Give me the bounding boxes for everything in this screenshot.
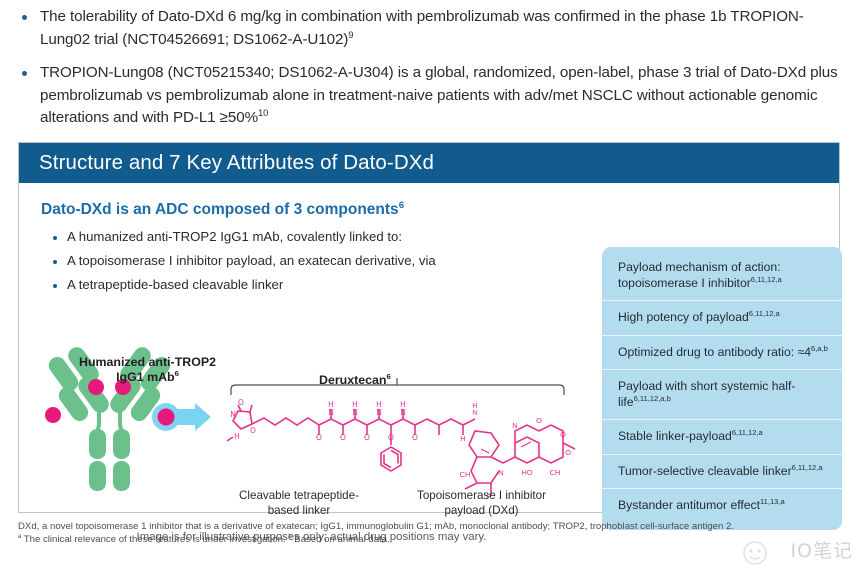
reference-superscript: 6 <box>175 369 179 378</box>
svg-text:CH: CH <box>550 468 561 477</box>
intro-bullet-1-text: The tolerability of Dato-DXd 6 mg/kg in … <box>40 6 842 51</box>
attribute-row: Tumor-selective cleavable linker6,11,12,… <box>602 455 842 490</box>
attribute-row: Payload mechanism of action: topoisomera… <box>602 251 842 301</box>
reference-superscript: 6,11,12,a,b <box>634 393 671 402</box>
dxd-payload-structure: N H H N O O O HO N CH F CH <box>427 401 575 501</box>
reference-superscript: 9 <box>348 28 353 39</box>
svg-text:O: O <box>340 433 346 442</box>
svg-text:N: N <box>230 410 236 419</box>
svg-text:H: H <box>460 434 465 443</box>
intro-bullet-2-text: TROPION-Lung08 (NCT05215340; DS1062-A-U3… <box>40 62 842 130</box>
svg-text:CH: CH <box>460 470 471 479</box>
reference-superscript: 6,11,12,a <box>732 428 763 437</box>
svg-text:O: O <box>388 433 394 442</box>
reference-superscript: 10 <box>258 107 268 118</box>
footnote-abbreviations: DXd, a novel topoisomerase 1 inhibitor t… <box>18 521 848 534</box>
svg-text:H: H <box>472 401 477 410</box>
footnote-markers: a The clinical relevance of these featur… <box>18 534 848 547</box>
deruxtecan-label: Deruxtecan6 <box>319 373 391 387</box>
adc-structure-illustration: O O O HN O HN O HN O HN O H N <box>19 183 584 513</box>
svg-text:N: N <box>328 408 334 417</box>
svg-text:N: N <box>352 408 358 417</box>
bullet-dot-icon <box>22 71 27 76</box>
svg-text:HO: HO <box>521 468 532 477</box>
svg-text:H: H <box>234 432 240 441</box>
reference-superscript: 6,11,12,a <box>751 274 782 283</box>
payload-caption: Topoisomerase I inhibitor payload (DXd) <box>394 489 569 518</box>
svg-text:N: N <box>512 421 517 430</box>
svg-text:O: O <box>364 433 370 442</box>
antibody-label: Humanized anti-TROP2 IgG1 mAb6 <box>65 355 230 385</box>
list-item: TROPION-Lung08 (NCT05215340; DS1062-A-U3… <box>22 62 842 130</box>
reference-superscript: 6,a,b <box>811 343 828 352</box>
svg-text:O: O <box>238 398 244 407</box>
structure-attributes-panel: Structure and 7 Key Attributes of Dato-D… <box>18 142 840 513</box>
list-item: The tolerability of Dato-DXd 6 mg/kg in … <box>22 6 842 51</box>
svg-text:O: O <box>250 426 256 435</box>
deruxtecan-bracket <box>231 378 564 395</box>
page-title: Structure and 7 Key Attributes of Dato-D… <box>39 151 434 175</box>
attribute-row: Stable linker-payload6,11,12,a <box>602 420 842 455</box>
bullet-dot-icon <box>22 15 27 20</box>
svg-text:O: O <box>560 430 566 439</box>
svg-text:O: O <box>316 433 322 442</box>
reference-superscript: 6,11,12,a <box>749 309 780 318</box>
reference-superscript: 11,13,a <box>760 497 785 506</box>
attribute-row: Payload with short systemic half-life6,1… <box>602 370 842 420</box>
payload-release-arrow-icon <box>152 403 211 431</box>
intro-bullet-list: The tolerability of Dato-DXd 6 mg/kg in … <box>22 6 842 141</box>
adc-composition-column: Dato-DXd is an ADC composed of 3 compone… <box>19 183 584 513</box>
attribute-row: Bystander antitumor effect11,13,a <box>602 489 842 523</box>
attribute-row: High potency of payload6,11,12,a <box>602 301 842 336</box>
footnotes: DXd, a novel topoisomerase 1 inhibitor t… <box>18 521 848 546</box>
key-attributes-box: Payload mechanism of action: topoisomera… <box>602 247 842 530</box>
cleavable-linker-structure: O O O HN O HN O HN O HN O H N <box>227 398 427 471</box>
svg-text:O: O <box>412 433 418 442</box>
svg-text:O: O <box>536 416 542 425</box>
svg-text:N: N <box>498 468 503 477</box>
panel-header: Structure and 7 Key Attributes of Dato-D… <box>19 143 839 183</box>
svg-text:N: N <box>400 408 406 417</box>
svg-text:N: N <box>376 408 382 417</box>
reference-superscript: 6 <box>387 372 391 381</box>
reference-superscript: 6,11,12,a <box>792 462 823 471</box>
attribute-row: Optimized drug to antibody ratio: ≈46,a,… <box>602 336 842 371</box>
panel-body: Dato-DXd is an ADC composed of 3 compone… <box>19 183 839 513</box>
linker-caption: Cleavable tetrapeptide- based linker <box>214 489 384 518</box>
svg-text:O: O <box>565 448 571 457</box>
